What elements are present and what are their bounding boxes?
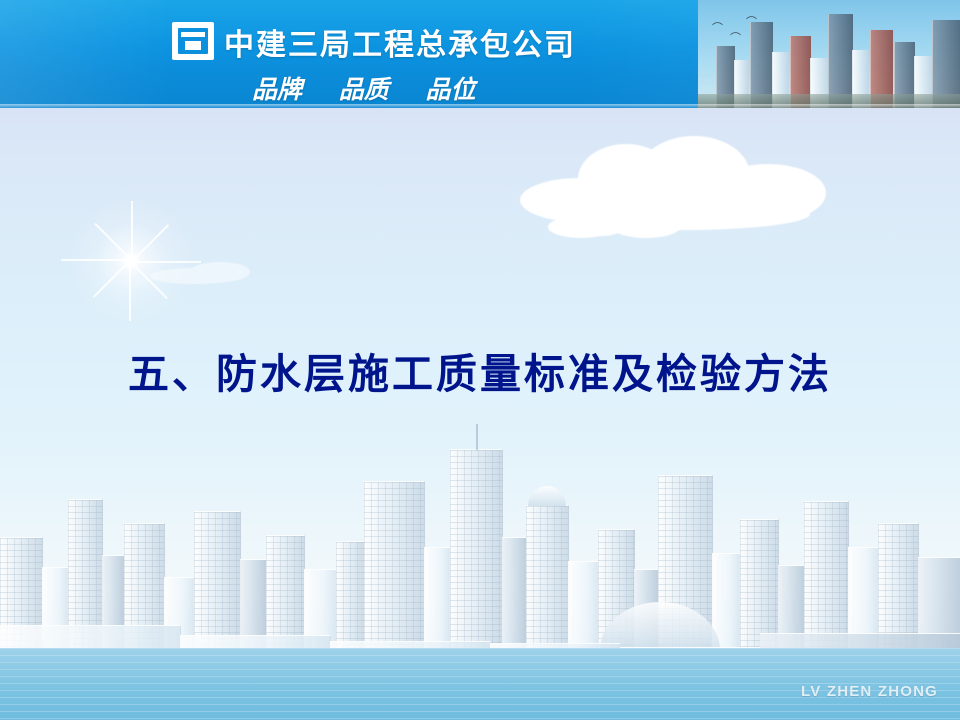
bird-icon: ︵: [730, 26, 741, 37]
company-name-text: 中建三局工程总承包公司: [224, 20, 576, 64]
header-banner: ︵ ︵ ︵ 中建三局工程总承包公司 品牌 品质 品位: [0, 0, 960, 108]
sun-ray: [94, 223, 132, 261]
slogan-word-1: 品牌: [252, 75, 302, 104]
banner-photo-montage: ︵ ︵ ︵: [698, 0, 960, 108]
company-slogan: 品牌 品质 品位: [252, 70, 475, 106]
cloud-puff: [190, 262, 250, 282]
antenna-spire: [476, 424, 478, 450]
watermark-text: LV ZHEN ZHONG: [801, 683, 938, 700]
sun-ray: [61, 259, 131, 261]
sun-ray: [131, 224, 169, 262]
sun-ray: [131, 261, 201, 263]
sun-ray: [129, 261, 131, 321]
slogan-word-3: 品位: [425, 75, 475, 104]
city-skyline-illustration: [0, 400, 960, 688]
domed-roof: [528, 486, 566, 506]
sun-ray: [93, 260, 131, 298]
sun-ray: [131, 201, 133, 261]
bird-icon: ︵: [712, 16, 723, 27]
presentation-slide: 五、防水层施工质量标准及检验方法 LV ZHEN ZHONG ︵ ︵ ︵: [0, 0, 960, 720]
sun-flare-icon: [66, 196, 196, 326]
bird-icon: ︵: [746, 10, 757, 21]
logo-glyph: [178, 28, 208, 54]
page-title: 五、防水层施工质量标准及检验方法: [0, 340, 960, 400]
company-logo-icon: [172, 22, 214, 60]
sun-ray: [130, 261, 168, 299]
banner-divider: [0, 104, 960, 108]
cloud-puff: [610, 212, 682, 238]
slogan-word-2: 品质: [339, 75, 389, 104]
